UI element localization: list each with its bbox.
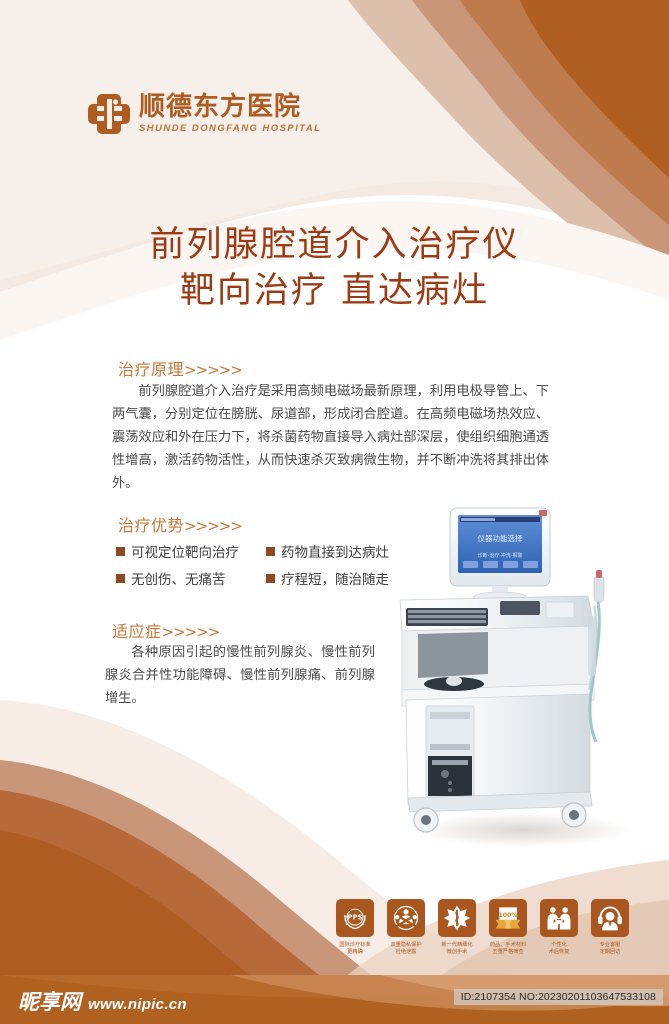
feature-caption: 新一代精细化微创手术 xyxy=(441,942,472,956)
bullet-square-icon xyxy=(266,547,275,556)
feature-item: 新一代精细化微创手术 xyxy=(436,899,478,956)
section-heading-principle: 治疗原理>>>>> xyxy=(118,356,242,380)
advantage-label: 无创伤、无痛苦 xyxy=(131,568,226,588)
feature-icon-box: PPS xyxy=(336,899,374,937)
image-id-badge: ID:2107354 NO:20230201103647533108 xyxy=(454,989,663,1005)
feature-item: 专业客服定期回访 xyxy=(589,899,631,956)
principle-heading-text: 治疗原理 xyxy=(118,360,184,379)
hospital-logo: 顺德东方医院 SHUNDE DONGFANG HOSPITAL xyxy=(88,92,321,136)
medical-cross-icon xyxy=(88,92,130,136)
watermark: 昵享网 www.nipic.cn xyxy=(18,986,187,1016)
advantage-label: 药物直接到达病灶 xyxy=(281,541,389,561)
section-heading-advantages: 治疗优势>>>>> xyxy=(118,512,242,536)
principle-chevrons: >>>>> xyxy=(184,361,242,379)
feature-icon-box xyxy=(540,899,578,937)
title-line-2: 靶向治疗 直达病灶 xyxy=(0,268,669,314)
indications-heading-text: 适应症 xyxy=(112,622,162,641)
feature-item: 个性化术后恢复 xyxy=(538,899,580,956)
logo-name-en: SHUNDE DONGFANG HOSPITAL xyxy=(139,124,321,134)
poster-canvas: 顺德东方医院 SHUNDE DONGFANG HOSPITAL 前列腺腔道介入治… xyxy=(0,0,669,1024)
bullet-square-icon xyxy=(116,547,125,556)
feature-icon-box xyxy=(591,899,629,937)
feature-caption: 双重隐私保护杜绝泄露 xyxy=(390,942,421,956)
feature-badges: PPS 国际诊疗标准更精确 xyxy=(334,899,631,956)
indications-paragraph: 各种原因引起的慢性前列腺炎、慢性前列腺炎合并性功能障碍、慢性前列腺痛、前列腺增生… xyxy=(105,641,375,710)
caduceus-star-icon xyxy=(442,903,472,933)
device-cart xyxy=(402,626,594,804)
feature-icon-box: 100% xyxy=(489,899,527,937)
device-handpiece xyxy=(588,570,604,742)
feature-item: 双重隐私保护杜绝泄露 xyxy=(385,899,427,956)
feature-caption: 药品、手术材料五重严格筛查 xyxy=(490,942,526,956)
feature-item: 100% 药品、手术材料五重严格筛查 xyxy=(487,899,529,956)
feature-icon-box xyxy=(438,899,476,937)
doctor-patient-icon xyxy=(544,903,574,933)
section-heading-indications: 适应症>>>>> xyxy=(112,618,219,642)
advantage-label: 可视定位靶向治疗 xyxy=(131,541,239,561)
feature-icon-box xyxy=(387,899,425,937)
device-worktop xyxy=(400,596,594,631)
title-line-1: 前列腺腔道介入治疗仪 xyxy=(0,222,669,268)
principle-paragraph: 前列腺腔道介入治疗是采用高频电磁场最新原理，利用电极导管上、下两气囊，分别定位在… xyxy=(112,380,549,495)
bullet-square-icon xyxy=(116,574,125,583)
logo-name-cn: 顺德东方医院 xyxy=(139,94,321,120)
advantages-chevrons: >>>>> xyxy=(184,517,242,535)
advantages-heading-text: 治疗优势 xyxy=(118,516,184,535)
indications-chevrons: >>>>> xyxy=(162,623,220,641)
feature-caption: 专业客服定期回访 xyxy=(600,942,621,956)
feature-caption: 个性化术后恢复 xyxy=(549,942,570,956)
therapy-device-image: 仪器功能选择 诊断·治疗·冲洗·报警 xyxy=(388,498,638,850)
pps-laurel-icon: PPS xyxy=(340,903,370,933)
watermark-url: www.nipic.cn xyxy=(88,996,187,1013)
watermark-brand-cn: 昵享网 xyxy=(18,986,81,1016)
svg-text:PPS: PPS xyxy=(347,912,362,921)
advantages-list: 可视定位靶向治疗 药物直接到达病灶 无创伤、无痛苦 疗程短，随治随走 xyxy=(116,541,416,588)
feature-item: PPS 国际诊疗标准更精确 xyxy=(334,899,376,956)
advantage-label: 疗程短，随治随走 xyxy=(281,568,389,588)
list-item: 可视定位靶向治疗 xyxy=(116,541,266,561)
feature-caption: 国际诊疗标准更精确 xyxy=(339,942,370,956)
privacy-shield-icon xyxy=(391,903,421,933)
list-item: 无创伤、无痛苦 xyxy=(116,568,266,588)
device-monitor: 仪器功能选择 诊断·治疗·冲洗·报警 xyxy=(450,508,550,602)
bullet-square-icon xyxy=(266,574,275,583)
device-screen-subtitle: 诊断·治疗·冲洗·报警 xyxy=(478,552,523,559)
svg-text:100%: 100% xyxy=(498,912,517,919)
footer-bar: 昵享网 www.nipic.cn ID:2107354 NO:202302011… xyxy=(0,975,669,1024)
hundred-percent-icon: 100% xyxy=(493,903,523,933)
page-title: 前列腺腔道介入治疗仪 靶向治疗 直达病灶 xyxy=(0,222,669,314)
device-screen-title: 仪器功能选择 xyxy=(478,533,523,543)
headset-service-icon xyxy=(595,903,625,933)
